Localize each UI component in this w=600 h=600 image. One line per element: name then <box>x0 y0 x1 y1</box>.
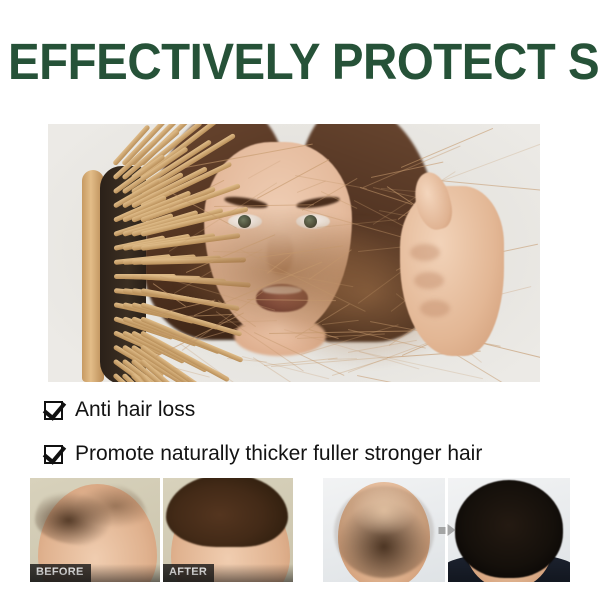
benefit-label-2: Promote naturally thicker fuller stronge… <box>75 442 482 466</box>
benefits-checklist: Anti hair loss Promote naturally thicker… <box>44 392 564 472</box>
benefit-label-1: Anti hair loss <box>75 398 195 422</box>
comparison-panel-right <box>323 478 570 582</box>
knuckle-2 <box>414 272 444 289</box>
checkbox-checked-icon <box>44 401 63 420</box>
knuckle-3 <box>420 300 450 317</box>
full-crown-hair <box>455 480 562 578</box>
knuckle-1 <box>410 244 440 261</box>
after-photo-crown <box>445 478 570 582</box>
after-label: AFTER <box>163 564 214 582</box>
before-photo-crown <box>323 478 445 582</box>
checkbox-checked-icon <box>44 445 63 464</box>
comparison-panel-left: BEFORE AFTER <box>30 478 293 582</box>
list-item: Promote naturally thicker fuller stronge… <box>44 436 564 472</box>
full-hair <box>166 478 288 547</box>
thinning-crown <box>334 486 434 578</box>
play-arrow-icon <box>438 524 455 536</box>
page-title: EFFECTIVELY PROTECT SCALP <box>8 34 551 92</box>
before-label: BEFORE <box>30 564 91 582</box>
hero-illustration <box>48 124 540 382</box>
before-photo-side: BEFORE <box>30 478 160 582</box>
list-item: Anti hair loss <box>44 392 564 428</box>
after-photo-side: AFTER <box>160 478 293 582</box>
hero-hair-loss-photo <box>48 124 540 382</box>
